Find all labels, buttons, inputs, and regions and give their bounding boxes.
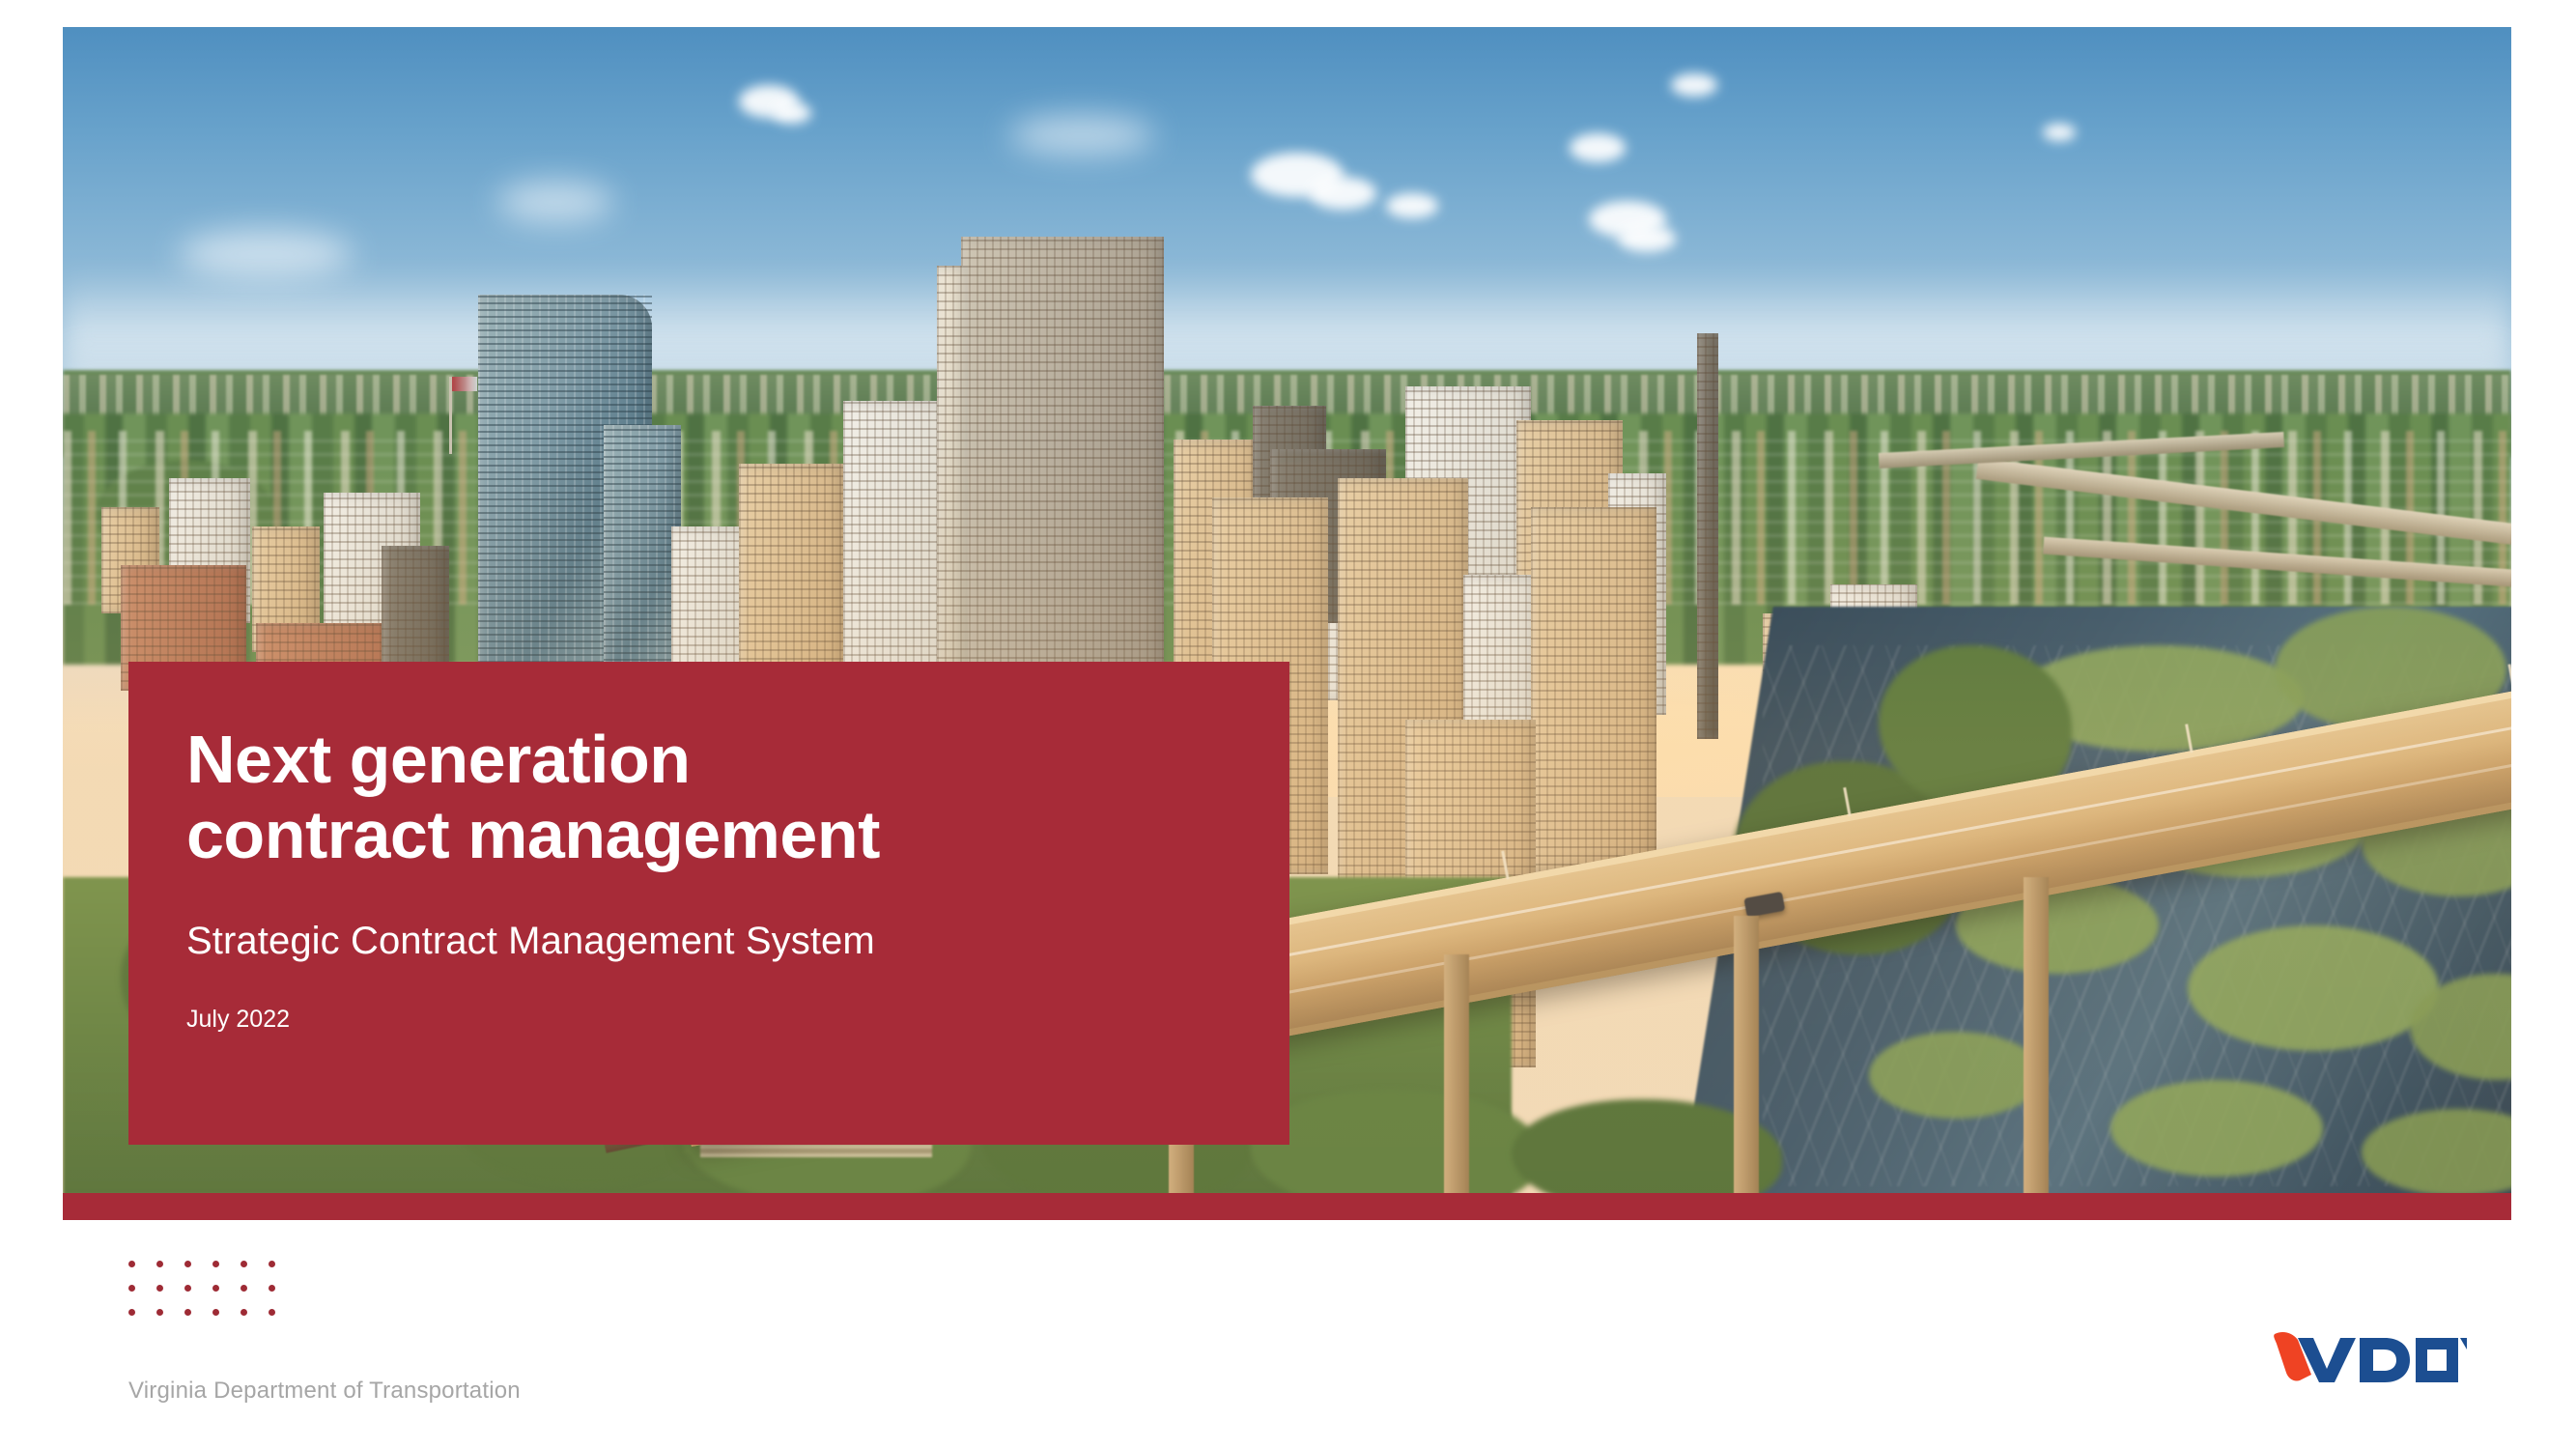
vdot-letter-o xyxy=(2416,1338,2458,1382)
vdot-letter-t-top xyxy=(2460,1338,2467,1350)
title-slide: Next generation contract management Stra… xyxy=(0,0,2576,1449)
accent-strip xyxy=(63,1193,2511,1220)
dot xyxy=(212,1309,219,1316)
page-date: July 2022 xyxy=(186,1006,1289,1034)
dot xyxy=(212,1261,219,1267)
vdot-logo-icon xyxy=(2269,1326,2467,1384)
dot xyxy=(156,1261,163,1267)
dot xyxy=(269,1261,275,1267)
dot xyxy=(212,1285,219,1292)
bridge-pier xyxy=(1444,954,1469,1193)
building xyxy=(739,464,845,686)
page-subtitle: Strategic Contract Management System xyxy=(186,920,1289,963)
dot xyxy=(128,1261,135,1267)
dot xyxy=(184,1285,191,1292)
dot xyxy=(156,1309,163,1316)
page-title-line-2: contract management xyxy=(186,797,1289,872)
building-main-tower-annex xyxy=(937,266,968,720)
dot xyxy=(184,1261,191,1267)
footer-organization-label: Virginia Department of Transportation xyxy=(128,1378,521,1405)
smokestack xyxy=(1697,333,1718,739)
bridge-pier xyxy=(1734,916,1759,1193)
dot xyxy=(128,1309,135,1316)
dot xyxy=(128,1285,135,1292)
building-riverfront-tower xyxy=(1531,507,1656,874)
dot xyxy=(241,1309,247,1316)
dot xyxy=(184,1309,191,1316)
dot xyxy=(241,1285,247,1292)
page-title-line-1: Next generation xyxy=(186,722,1289,797)
building-main-tower xyxy=(961,237,1164,720)
car-vehicle xyxy=(1743,892,1785,918)
bridge-pier xyxy=(2024,877,2049,1193)
river-island xyxy=(2110,1080,2323,1177)
river-island xyxy=(2188,925,2439,1051)
dot xyxy=(241,1261,247,1267)
dot xyxy=(156,1285,163,1292)
flag-icon xyxy=(452,377,477,391)
decorative-dot-grid xyxy=(128,1261,297,1333)
river-island xyxy=(1869,1032,2043,1119)
dot xyxy=(269,1285,275,1292)
dot xyxy=(269,1309,275,1316)
vdot-letter-d xyxy=(2360,1338,2410,1382)
vdot-logo xyxy=(2269,1326,2467,1384)
title-card: Next generation contract management Stra… xyxy=(128,662,1289,1145)
